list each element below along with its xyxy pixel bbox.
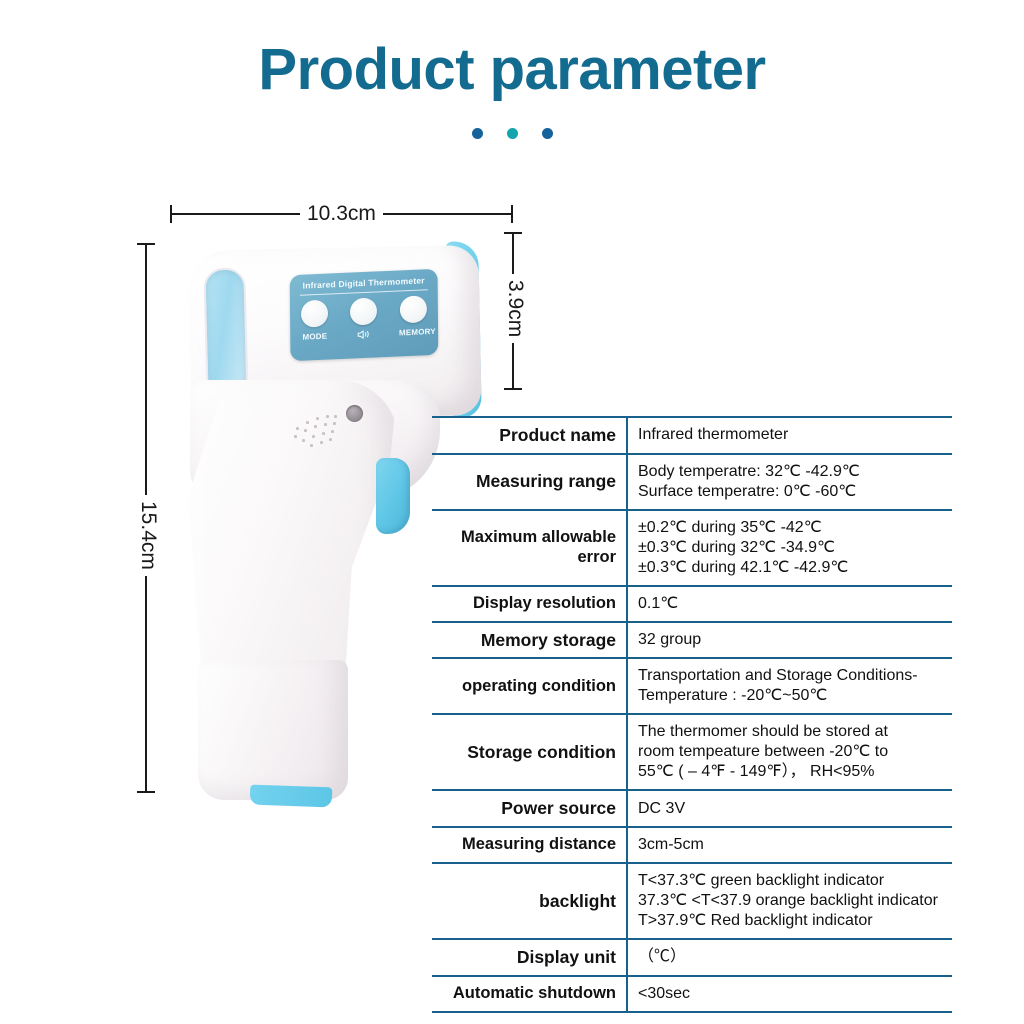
table-row-value: Infrared thermometer [628, 418, 952, 453]
decorative-dots [0, 128, 1024, 139]
table-value-line: Infrared thermometer [638, 425, 788, 445]
table-row-label: Power source [432, 791, 628, 826]
table-row-value: ±0.2℃ during 35℃ -42℃±0.3℃ during 32℃ -3… [628, 511, 952, 585]
table-value-line: T<37.3℃ green backlight indicator [638, 871, 938, 891]
table-row-value: Body temperatre: 32℃ -42.9℃Surface tempe… [628, 455, 952, 509]
sound-button[interactable] [349, 297, 378, 341]
table-row-value: The thermomer should be stored atroom te… [628, 715, 952, 789]
spec-table: Product nameInfrared thermometerMeasurin… [432, 416, 952, 1013]
table-row-label: Display resolution [432, 587, 628, 621]
grille-dot [296, 427, 299, 430]
table-value-line: Transportation and Storage Conditions- [638, 666, 918, 686]
memory-button[interactable]: MEMORY [399, 295, 428, 337]
mode-button-dot [301, 300, 328, 328]
product-parameter-page: Product parameter 10.3cm 3.9cm 15.4cm In… [0, 0, 1024, 1024]
table-row-label: Maximum allowable error [432, 511, 628, 585]
dot-3-icon [542, 128, 553, 139]
device-control-panel: Infrared Digital Thermometer MODE [290, 269, 439, 362]
grille-dot [331, 430, 334, 433]
table-row: Measuring distance3cm-5cm [432, 826, 952, 862]
table-value-line: ±0.2℃ during 35℃ -42℃ [638, 518, 848, 538]
table-value-line: Surface temperatre: 0℃ -60℃ [638, 482, 860, 502]
grille-dot [310, 444, 313, 447]
table-value-line: 55℃ ( – 4℉ - 149℉）， RH<95% [638, 762, 888, 782]
grille-dot [334, 415, 337, 418]
table-row-value: T<37.3℃ green backlight indicator37.3℃ <… [628, 864, 952, 938]
table-value-line: room tempeature between -20℃ to [638, 742, 888, 762]
table-row-label: operating condition [432, 659, 628, 713]
table-row-value: 32 group [628, 623, 952, 658]
table-row-value: DC 3V [628, 791, 952, 826]
table-value-line: 0.1℃ [638, 594, 678, 614]
grille-dot [314, 425, 317, 428]
table-value-line: Body temperatre: 32℃ -42.9℃ [638, 462, 860, 482]
sound-button-dot [350, 297, 377, 325]
dot-2-icon [507, 128, 518, 139]
grille-dot [312, 435, 315, 438]
table-row-value: <30sec [628, 977, 952, 1011]
table-row: Maximum allowable error±0.2℃ during 35℃ … [432, 509, 952, 585]
memory-button-label: MEMORY [399, 327, 428, 337]
table-row: backlightT<37.3℃ green backlight indicat… [432, 862, 952, 938]
table-row: Automatic shutdown<30sec [432, 975, 952, 1013]
grille-dot [294, 435, 297, 438]
grille-dot [324, 423, 327, 426]
table-row-label: Measuring range [432, 455, 628, 509]
grille-dot [329, 438, 332, 441]
table-value-line: ±0.3℃ during 32℃ -34.9℃ [638, 538, 848, 558]
mode-button-label: MODE [300, 332, 329, 342]
table-row: operating conditionTransportation and St… [432, 657, 952, 713]
speaker-grille-icon [292, 413, 338, 449]
table-row-label: backlight [432, 864, 628, 938]
table-row-value: Transportation and Storage Conditions-Te… [628, 659, 952, 713]
dot-1-icon [472, 128, 483, 139]
table-row-label: Storage condition [432, 715, 628, 789]
table-value-line: 37.3℃ <T<37.9 orange backlight indicator [638, 891, 938, 911]
table-row-label: Memory storage [432, 623, 628, 658]
table-row-value: 3cm-5cm [628, 828, 952, 862]
table-row-label: Automatic shutdown [432, 977, 628, 1011]
table-value-line: 3cm-5cm [638, 835, 704, 855]
grille-dot [326, 415, 329, 418]
table-row: Power sourceDC 3V [432, 789, 952, 826]
sensor-port-icon [346, 405, 363, 422]
page-title: Product parameter [0, 36, 1024, 103]
table-value-line: Temperature : -20℃~50℃ [638, 686, 918, 706]
table-row: Measuring rangeBody temperatre: 32℃ -42.… [432, 453, 952, 509]
grille-dot [304, 429, 307, 432]
table-row: Display resolution0.1℃ [432, 585, 952, 621]
device-handle-lower [198, 660, 348, 800]
grille-dot [322, 432, 325, 435]
table-value-line: 32 group [638, 630, 701, 650]
table-value-line: The thermomer should be stored at [638, 722, 888, 742]
table-row: Product nameInfrared thermometer [432, 416, 952, 453]
table-row-label: Product name [432, 418, 628, 453]
table-value-line: DC 3V [638, 799, 685, 819]
table-row-label: Measuring distance [432, 828, 628, 862]
table-row: Storage conditionThe thermomer should be… [432, 713, 952, 789]
speaker-icon [350, 329, 379, 341]
table-row-label: Display unit [432, 940, 628, 975]
table-row-value: 0.1℃ [628, 587, 952, 621]
table-value-line: T>37.9℃ Red backlight indicator [638, 911, 938, 931]
device-handle-accent [250, 785, 333, 808]
mode-button[interactable]: MODE [300, 300, 329, 342]
memory-button-dot [400, 295, 427, 323]
grille-dot [333, 422, 336, 425]
grille-dot [306, 421, 309, 424]
table-row: Display unit（℃） [432, 938, 952, 975]
panel-divider [300, 289, 428, 296]
speaker-icon-svg [358, 330, 371, 340]
dimension-width-label: 10.3cm [300, 202, 383, 226]
grille-dot [320, 441, 323, 444]
table-value-line: （℃） [638, 947, 686, 967]
table-value-line: <30sec [638, 984, 690, 1004]
table-row-value: （℃） [628, 940, 952, 975]
device-trigger-button[interactable] [376, 458, 410, 534]
table-value-line: ±0.3℃ during 42.1℃ -42.9℃ [638, 558, 848, 578]
grille-dot [316, 417, 319, 420]
table-row: Memory storage32 group [432, 621, 952, 658]
grille-dot [302, 439, 305, 442]
